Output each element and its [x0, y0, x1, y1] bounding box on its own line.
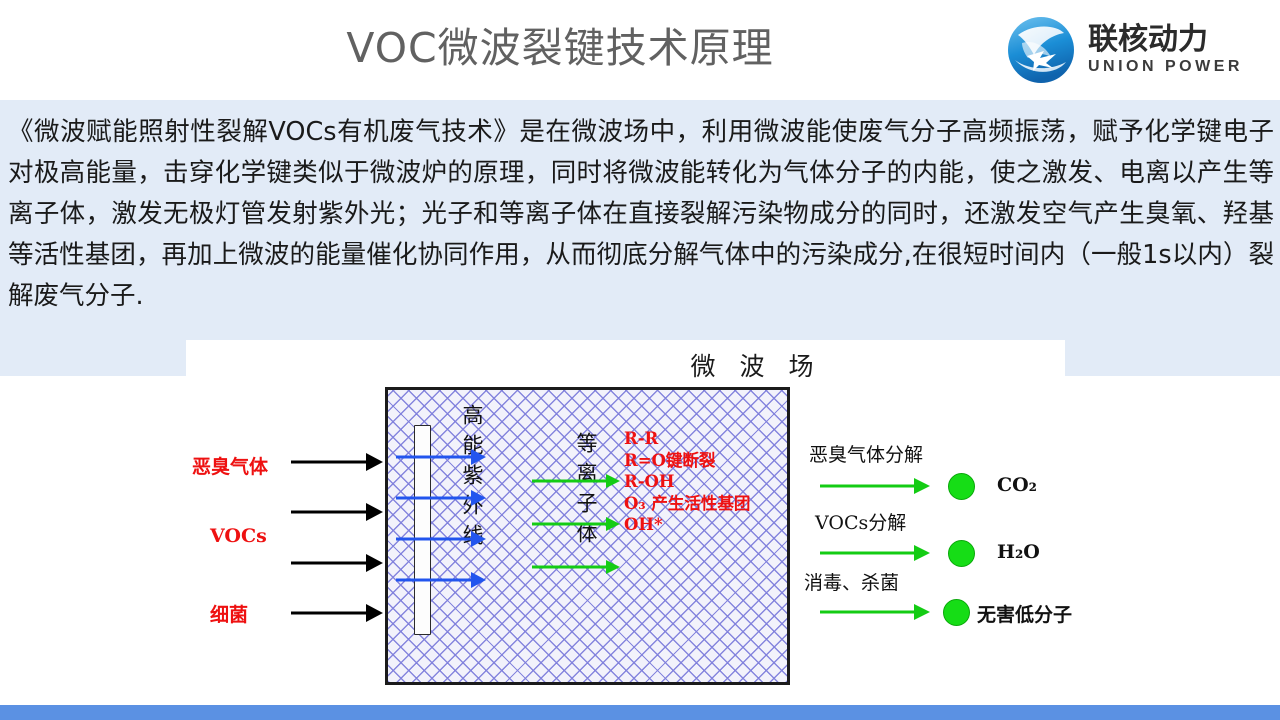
logo-en-name: UNION POWER: [1088, 57, 1243, 77]
diagram-title: 微 波 场: [626, 347, 886, 383]
blue-globe-swoosh-logo-icon: [1004, 13, 1078, 87]
microwave-chamber: 高能紫外线 等离子体 R-R R=O键断裂 R-OH O₃: [385, 387, 790, 685]
product-dot-harmless-molecules: [943, 599, 970, 626]
process-diagram: 微 波 场 恶臭气体 VOCs 细菌 高能紫外线 等离子体: [186, 340, 1065, 705]
outlet-label-vocs-decomposition: VOCs分解: [815, 508, 906, 535]
outlet-label-disinfection: 消毒、杀菌: [804, 568, 899, 595]
plasma-label: 等离子体: [571, 432, 601, 552]
company-logo: 联核动力 UNION POWER: [1004, 12, 1266, 88]
product-line-4: O₃ 产生活性基团: [624, 493, 750, 515]
logo-cn-name: 联核动力: [1088, 23, 1243, 57]
page-title: VOC微波裂键技术原理: [280, 22, 840, 74]
reaction-products-list: R-R R=O键断裂 R-OH O₃ 产生活性基团 OH*: [624, 428, 750, 536]
outlet-label-odor-decomposition: 恶臭气体分解: [809, 440, 923, 467]
product-dot-h2o: [948, 540, 975, 567]
inlet-label-vocs: VOCs: [210, 525, 267, 547]
product-name-h2o: H₂O: [997, 541, 1040, 563]
product-name-harmless-molecules: 无害低分子: [977, 600, 1072, 627]
inlet-label-odorous-gas: 恶臭气体: [192, 452, 268, 479]
bottom-accent-bar: [0, 705, 1280, 720]
product-name-co2: CO₂: [997, 474, 1037, 496]
product-line-1: R-R: [624, 428, 750, 450]
description-panel: 《微波赋能照射性裂解VOCs有机废气技术》是在微波场中，利用微波能使废气分子高频…: [0, 100, 1280, 376]
product-line-5: OH*: [624, 514, 750, 536]
product-line-3: R-OH: [624, 471, 750, 493]
product-dot-co2: [948, 473, 975, 500]
inlet-label-bacteria: 细菌: [210, 600, 248, 627]
logo-wordmark: 联核动力 UNION POWER: [1088, 23, 1243, 77]
page-header: VOC微波裂键技术原理: [0, 0, 1280, 100]
description-paragraph: 《微波赋能照射性裂解VOCs有机废气技术》是在微波场中，利用微波能使废气分子高频…: [8, 112, 1274, 317]
product-line-2: R=O键断裂: [624, 450, 750, 472]
